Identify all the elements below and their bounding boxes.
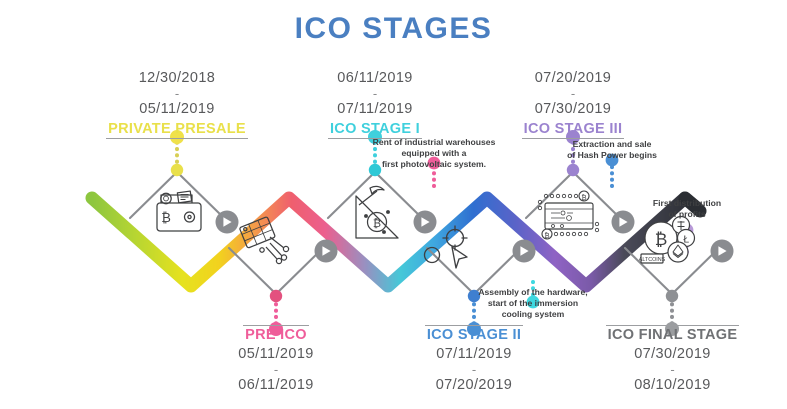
stage-block-ico-stage-3: 07/20/2019 - 07/30/2019 ICO STAGE III [493, 68, 653, 139]
gradient-zigzag-ribbon [92, 198, 700, 286]
date-separator: - [394, 365, 554, 375]
note-first-distribution: First distribution of profits [627, 198, 747, 220]
stage-end-date: 07/30/2019 [493, 99, 653, 120]
svg-text:₿: ₿ [373, 217, 381, 230]
note-line: First distribution [627, 198, 747, 209]
date-separator: - [196, 365, 356, 375]
stage-block-ico-stage-2: ICO STAGE II 07/11/2019 - 07/20/2019 [394, 325, 554, 396]
svg-text:₿: ₿ [581, 194, 586, 202]
date-separator: - [97, 89, 257, 99]
stage-end-date: 05/11/2019 [97, 99, 257, 120]
stage-name-ico-final-stage[interactable]: ICO FINAL STAGE [606, 325, 740, 343]
svg-text:₿: ₿ [544, 232, 549, 240]
note-line: Assembly of the hardware, [471, 287, 595, 298]
note-line: equipped with a [364, 148, 504, 159]
stage-end-date: 07/11/2019 [295, 99, 455, 120]
note-line: cooling system [471, 309, 595, 320]
svg-text:₿: ₿ [655, 230, 668, 250]
note-line: Rent of industrial warehouses [364, 137, 504, 148]
note-hash-power: Extraction and sale of Hash Power begins [552, 139, 672, 161]
diamond-outlines-upper [130, 172, 620, 218]
stage-block-private-presale: 12/30/2018 - 05/11/2019 PRIVATE PRESALE [97, 68, 257, 139]
stage-end-date: 07/20/2019 [394, 375, 554, 396]
stage-name-private-presale[interactable]: PRIVATE PRESALE [106, 121, 248, 139]
bitcoin-wallet-icon: ₿ [157, 191, 201, 231]
infographic-canvas: ICO STAGES [0, 0, 787, 409]
svg-text:₿: ₿ [161, 211, 171, 226]
stage-block-ico-stage-1: 06/11/2019 - 07/11/2019 ICO STAGE I [295, 68, 455, 139]
stage-name-ico-stage-3[interactable]: ICO STAGE III [522, 121, 625, 139]
bitcoin-mining-pickaxe-icon: ₿ [356, 186, 398, 238]
note-line: of Hash Power begins [552, 150, 672, 161]
svg-text:ALTCOINS: ALTCOINS [639, 257, 666, 263]
note-line: Extraction and sale [552, 139, 672, 150]
date-separator: - [590, 365, 755, 375]
stage-name-ico-stage-2[interactable]: ICO STAGE II [425, 325, 523, 343]
stage-end-date: 06/11/2019 [196, 375, 356, 396]
stage-end-date: 08/10/2019 [590, 375, 755, 396]
note-line: of profits [627, 209, 747, 220]
note-line: first photovoltaic system. [364, 159, 504, 170]
date-separator: - [295, 89, 455, 99]
stage-block-ico-final-stage: ICO FINAL STAGE 07/30/2019 - 08/10/2019 [590, 325, 755, 396]
stage-name-pre-ico[interactable]: PRE ICO [243, 325, 309, 343]
note-line: start of the immersion [471, 298, 595, 309]
note-warehouses: Rent of industrial warehouses equipped w… [364, 137, 504, 170]
note-assembly: Assembly of the hardware, start of the i… [471, 287, 595, 320]
date-separator: - [493, 89, 653, 99]
stage-block-pre-ico: PRE ICO 05/11/2019 - 06/11/2019 [196, 325, 356, 396]
